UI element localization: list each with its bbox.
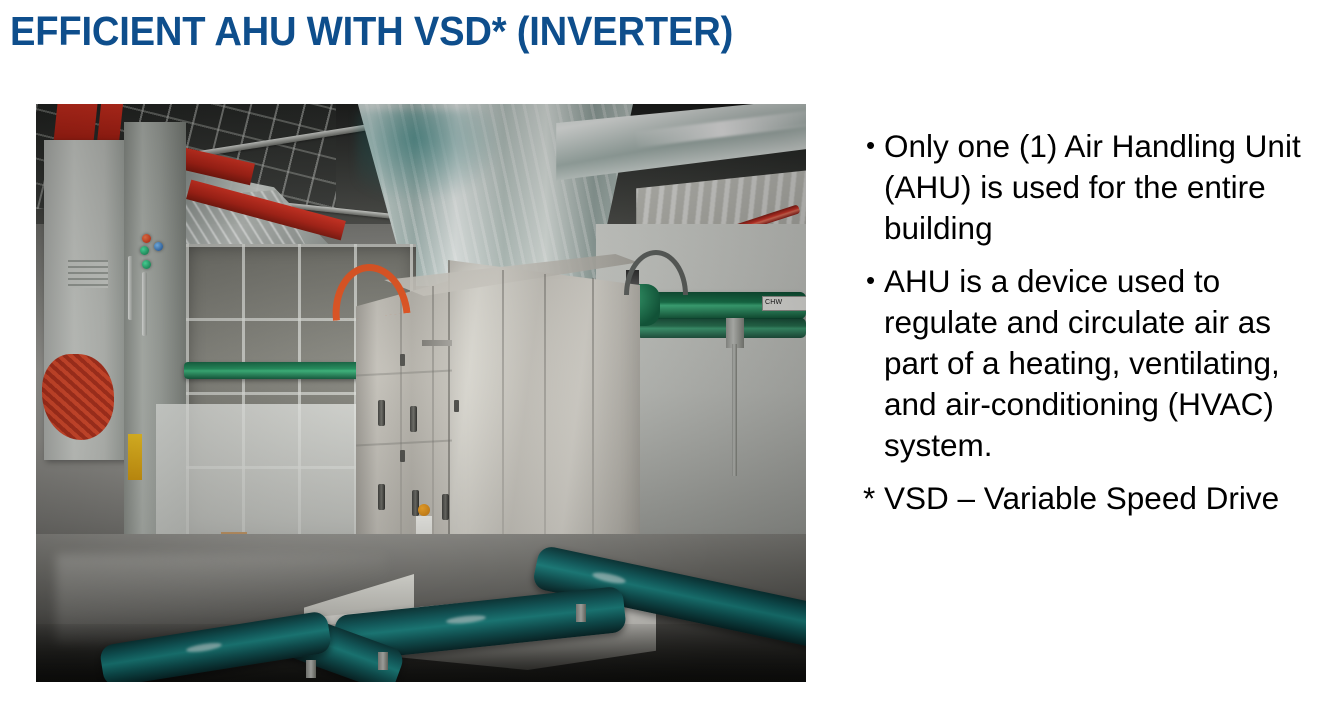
duct-teal-reflection [356, 110, 506, 206]
cabinet-warning-label [128, 434, 142, 480]
ahu-nameplate [422, 340, 452, 346]
ahu-access-door-handle [378, 484, 385, 510]
pipe-floor-clamp [306, 660, 316, 678]
ahu-pressure-gauge-icon [418, 504, 430, 516]
indicator-lamp-blue-icon [154, 242, 163, 251]
pipe-floor-clamp [576, 604, 586, 622]
ahu-access-door-handle [410, 406, 417, 432]
footnote: * VSD – Variable Speed Drive [858, 478, 1328, 519]
bullet-text-column: Only one (1) Air Handling Unit (AHU) is … [858, 126, 1328, 519]
cabinet-handle [142, 272, 147, 336]
ahu-photograph: CHW [36, 104, 806, 682]
indicator-lamp-red-icon [142, 234, 151, 243]
pipe-floor-clamp [378, 652, 388, 670]
cabinet-handle [128, 256, 133, 320]
ahu-door-hinge [454, 400, 459, 412]
page-title: EFFICIENT AHU WITH VSD* (INVERTER) [10, 4, 847, 62]
bullet-item: Only one (1) Air Handling Unit (AHU) is … [858, 126, 1328, 249]
footnote-text: VSD – Variable Speed Drive [884, 480, 1279, 516]
ahu-access-door-handle [378, 400, 385, 426]
ahu-door-hinge [400, 354, 405, 366]
ahu-door-hinge [400, 450, 405, 462]
pipe-support-rod [732, 344, 737, 476]
indicator-lamp-green-icon [142, 260, 151, 269]
cabinet-louver-vent [68, 260, 108, 288]
photo-scene: CHW [36, 104, 806, 682]
indicator-lamp-green-icon [140, 246, 149, 255]
bullet-item: AHU is a device used to regulate and cir… [858, 261, 1328, 466]
footnote-marker: * [863, 478, 875, 519]
pipe-label-chw: CHW [762, 296, 806, 311]
chilled-water-pipe-green-lower [636, 318, 806, 338]
ahu-access-door-handle [442, 494, 449, 520]
